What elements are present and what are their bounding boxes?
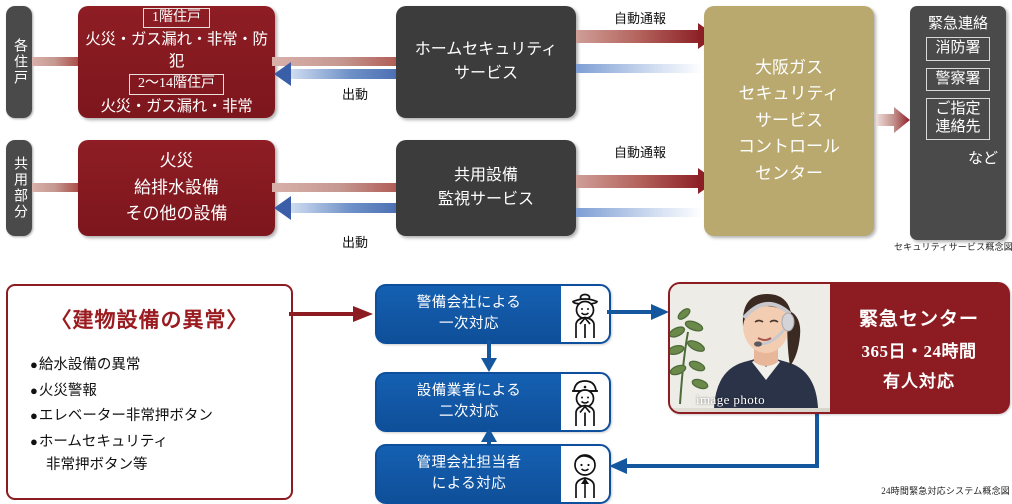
common-facility-line1: 共用設備 — [454, 164, 518, 188]
step-1-text: 警備会社による 一次対応 — [377, 286, 561, 342]
step-2-equipment-contractor: 設備業者による 二次対応 — [375, 372, 611, 432]
control-center-line1: 大阪ガス — [755, 55, 823, 81]
top-diagram-caption: セキュリティサービス概念図 — [893, 240, 1012, 253]
operator-photo: image photo — [670, 284, 830, 412]
osaka-gas-control-center-box: 大阪ガス セキュリティ サービス コントロール センター — [704, 6, 874, 236]
top-diagram: 各住戸 1階住戸 火災・ガス漏れ・非常・防犯 2〜14階住戸 火災・ガス漏れ・非… — [0, 0, 1012, 258]
row2-return-band-right — [576, 208, 703, 217]
step-1-line1: 警備会社による — [417, 293, 522, 314]
office-worker-icon — [561, 446, 609, 502]
emergency-center-line2: 365日・24時間 — [862, 337, 977, 362]
trigger-item-2: 火災警報 — [39, 383, 97, 399]
step-2-line2: 二次対応 — [439, 402, 499, 423]
step-3-line2: による対応 — [432, 474, 507, 495]
trigger-item-3: エレベーター非常押ボタン — [39, 408, 213, 424]
step-1-line2: 一次対応 — [439, 314, 499, 335]
control-center-line5: センター — [755, 161, 823, 187]
trigger-item-4: ホームセキュリティ — [39, 434, 168, 450]
row1-tag-floor2to14: 2〜14階住戸 — [129, 74, 224, 95]
step-1-security-company: 警備会社による 一次対応 — [375, 284, 611, 344]
center-to-step3-arrow — [605, 410, 825, 476]
step1-to-center-arrow — [607, 303, 669, 321]
row2-autoreport-band — [576, 175, 701, 188]
row1-return-band-right — [576, 64, 703, 73]
row1-alarm-source-box: 1階住戸 火災・ガス漏れ・非常・防犯 2〜14階住戸 火災・ガス漏れ・非常 — [78, 6, 275, 118]
row1-dispatch-label: 出動 — [300, 84, 410, 103]
contact-designated-line2: 連絡先 — [927, 119, 989, 137]
step-3-management-company: 管理会社担当者 による対応 — [375, 444, 611, 504]
contact-police-station: 警察署 — [926, 68, 990, 92]
row1-tag-floor1: 1階住戸 — [143, 8, 210, 29]
row1-autoreport-band — [576, 30, 701, 43]
home-security-service-line1: ホームセキュリティ — [415, 38, 558, 62]
bullet-icon: ● — [30, 383, 38, 398]
image-photo-watermark: image photo — [696, 392, 765, 408]
step-3-text: 管理会社担当者 による対応 — [377, 446, 561, 502]
emergency-contacts-etc: など — [968, 147, 998, 168]
emergency-center-panel: image photo 緊急センター 365日・24時間 有人対応 — [668, 282, 1010, 414]
row1-alarm-line2: 火災・ガス漏れ・非常 — [100, 96, 252, 118]
emergency-center-line3: 有人対応 — [883, 367, 955, 392]
row2-alarm-line3: その他の設備 — [126, 201, 228, 227]
row2-dispatch-label: 出動 — [300, 232, 410, 251]
bullet-icon: ● — [30, 408, 38, 423]
common-facility-monitor-box: 共用設備 監視サービス — [396, 140, 576, 236]
contact-fire-department: 消防署 — [926, 37, 990, 61]
step1-to-step2-arrow — [480, 340, 498, 372]
control-center-line2: セキュリティ — [739, 81, 840, 107]
contact-designated-line1: ご指定 — [927, 101, 989, 119]
row1-alarm-line1: 火災・ガス漏れ・非常・防犯 — [78, 29, 275, 72]
row1-dispatch-arrowhead — [274, 62, 291, 86]
row2-alarm-line2: 給排水設備 — [134, 175, 219, 201]
bullet-icon: ● — [30, 434, 38, 449]
security-guard-icon — [561, 286, 609, 342]
flow-band-row1-entry — [32, 57, 82, 66]
step-3-line1: 管理会社担当者 — [417, 453, 522, 474]
row2-autoreport-label: 自動通報 — [575, 142, 705, 161]
trigger-item-list: ●給水設備の異常 ●火災警報 ●エレベーター非常押ボタン ●ホームセキュリティ … — [30, 358, 291, 473]
common-facility-line2: 監視サービス — [438, 188, 534, 212]
flow-band-row2-entry — [32, 183, 82, 192]
trigger-item-4-sub: 非常押ボタン等 — [30, 458, 291, 473]
building-equipment-abnormality-panel: 〈建物設備の異常〉 ●給水設備の異常 ●火災警報 ●エレベーター非常押ボタン ●… — [6, 284, 293, 500]
trigger-panel-title: 〈建物設備の異常〉 — [8, 304, 291, 334]
row2-alarm-source-box: 火災 給排水設備 その他の設備 — [78, 140, 275, 236]
step-2-text: 設備業者による 二次対応 — [377, 374, 561, 430]
emergency-contacts-header: 緊急連絡 — [928, 12, 988, 33]
home-security-service-line2: サービス — [454, 62, 518, 86]
control-center-line4: コントロール — [738, 134, 840, 160]
home-security-service-box: ホームセキュリティ サービス — [396, 6, 576, 118]
row2-dispatch-arrowhead — [274, 196, 291, 220]
control-center-line3: サービス — [755, 108, 823, 134]
list-item: ●ホームセキュリティ 非常押ボタン等 — [30, 435, 291, 473]
bullet-icon: ● — [30, 357, 38, 372]
trigger-item-1: 給水設備の異常 — [39, 357, 141, 373]
side-label-common-area: 共用部分 — [6, 140, 32, 236]
emergency-contacts-box: 緊急連絡 消防署 警察署 ご指定 連絡先 など — [910, 6, 1006, 240]
list-item: ●エレベーター非常押ボタン — [30, 409, 291, 424]
center-to-contacts-arrow — [876, 106, 910, 134]
bottom-diagram-caption: 24時間緊急対応システム概念図 — [860, 484, 1010, 497]
engineer-icon — [561, 374, 609, 430]
list-item: ●給水設備の異常 — [30, 358, 291, 373]
row1-autoreport-label: 自動通報 — [575, 8, 705, 27]
contact-designated: ご指定 連絡先 — [926, 98, 990, 139]
side-label-each-dwelling: 各住戸 — [6, 6, 32, 118]
step-2-line1: 設備業者による — [417, 381, 522, 402]
trigger-to-step1-arrow — [289, 305, 373, 323]
bottom-diagram: 〈建物設備の異常〉 ●給水設備の異常 ●火災警報 ●エレベーター非常押ボタン ●… — [0, 262, 1012, 504]
emergency-center-info: 緊急センター 365日・24時間 有人対応 — [830, 284, 1008, 412]
list-item: ●火災警報 — [30, 384, 291, 399]
emergency-center-line1: 緊急センター — [859, 304, 979, 331]
row2-alarm-line1: 火災 — [160, 148, 194, 174]
